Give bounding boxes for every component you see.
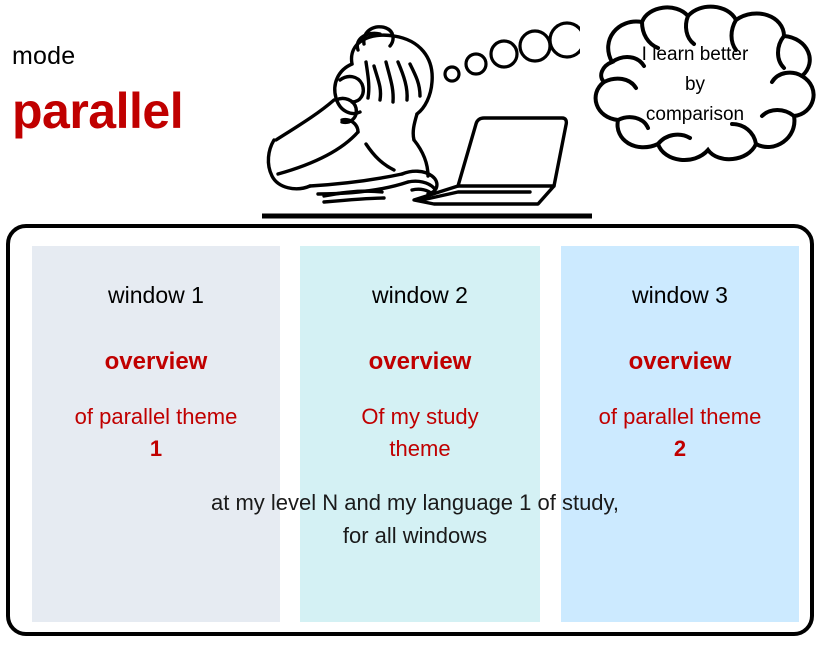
window-2-desc-number: theme bbox=[304, 433, 536, 465]
window-panel-2[interactable]: window 2 overview Of my study theme bbox=[300, 246, 540, 622]
window-3-desc-number: 2 bbox=[565, 433, 795, 465]
window-2-overview-heading: overview bbox=[300, 350, 540, 374]
window-3-description: of parallel theme 2 bbox=[565, 401, 795, 465]
window-panel-3[interactable]: window 3 overview of parallel theme 2 bbox=[561, 246, 799, 622]
window-2-description: Of my study theme bbox=[304, 401, 536, 465]
window-1-desc-number: 1 bbox=[36, 433, 276, 465]
thought-line-3: comparison bbox=[600, 100, 790, 130]
thought-bubble-text: I learn better by comparison bbox=[600, 40, 790, 130]
window-1-title: window 1 bbox=[32, 284, 280, 307]
thought-bubble-trail-icon bbox=[440, 18, 580, 88]
window-3-title: window 3 bbox=[561, 284, 799, 307]
window-3-desc-line: of parallel theme bbox=[565, 401, 795, 433]
window-2-desc-line: Of my study bbox=[304, 401, 536, 433]
window-1-description: of parallel theme 1 bbox=[36, 401, 276, 465]
window-panel-1[interactable]: window 1 overview of parallel theme 1 bbox=[32, 246, 280, 622]
window-2-title: window 2 bbox=[300, 284, 540, 307]
window-1-desc-line: of parallel theme bbox=[36, 401, 276, 433]
window-3-overview-heading: overview bbox=[561, 350, 799, 374]
windows-frame: window 1 overview of parallel theme 1 wi… bbox=[6, 224, 814, 636]
mode-label: mode bbox=[12, 44, 75, 69]
thought-line-1: I learn better bbox=[600, 40, 790, 70]
header-area: mode parallel bbox=[0, 0, 828, 224]
mode-value: parallel bbox=[12, 86, 183, 136]
thought-line-2: by bbox=[600, 70, 790, 100]
window-1-overview-heading: overview bbox=[32, 350, 280, 374]
